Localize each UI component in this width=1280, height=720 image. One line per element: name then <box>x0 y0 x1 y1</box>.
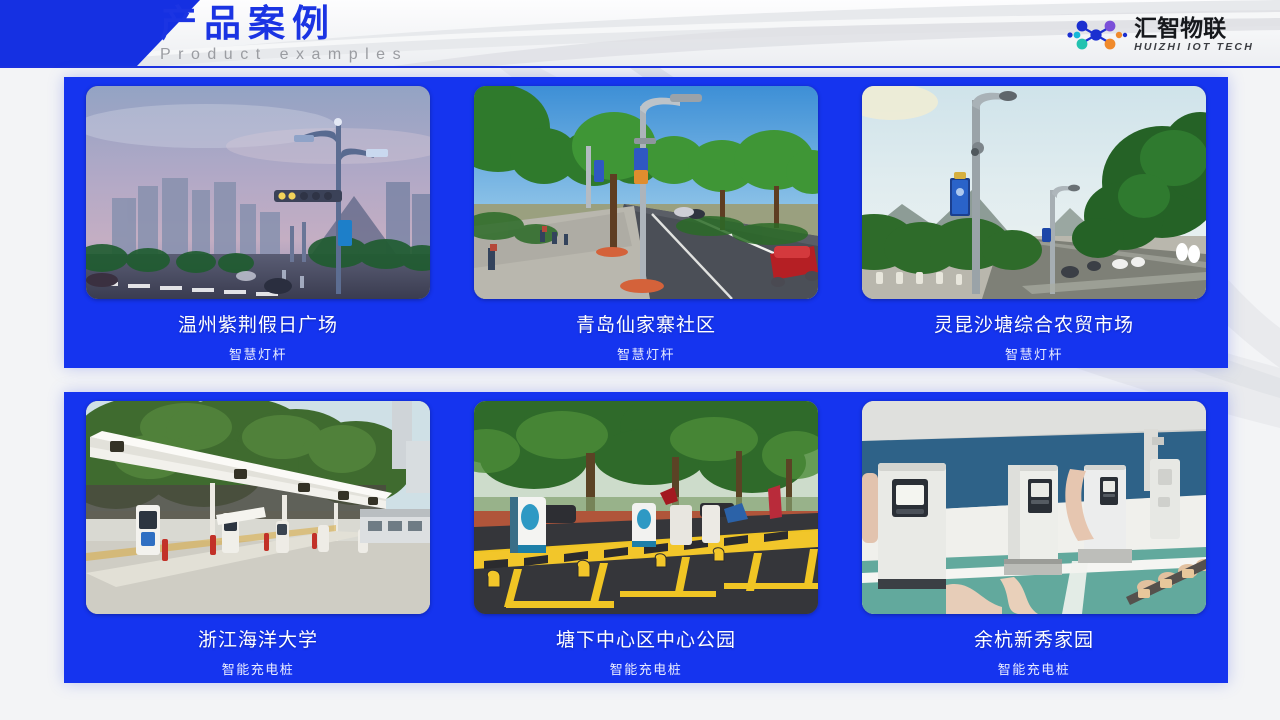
park-parking-lot-chargers-photo[interactable] <box>474 401 818 614</box>
card-subtitle: 智慧灯杆 <box>1005 344 1063 363</box>
card-title: 青岛仙家寨社区 <box>576 310 716 337</box>
card-title: 温州紫荆假日广场 <box>178 310 338 337</box>
brand-logo[interactable]: 汇智物联 HUIZHI IOT TECH <box>1066 14 1254 56</box>
example-card[interactable]: 灵昆沙塘综合农贸市场 智慧灯杆 <box>861 86 1207 363</box>
brand-name-en: HUIZHI IOT TECH <box>1134 41 1254 54</box>
card-row-2: 浙江海洋大学 智能充电桩 <box>64 392 1228 683</box>
page-subtitle: Product examples <box>160 45 408 65</box>
page-header: 产品案例 Product examples 汇智物联 HUIZHI IOT TE… <box>0 0 1280 68</box>
tree-lined-avenue-smart-pole-render[interactable] <box>474 86 818 299</box>
example-card[interactable]: 青岛仙家寨社区 智慧灯杆 <box>473 86 819 363</box>
brand-logo-text: 汇智物联 HUIZHI IOT TECH <box>1134 17 1254 54</box>
indoor-garage-charging-cabinets-photo[interactable] <box>862 401 1206 614</box>
example-card[interactable]: 余杭新秀家园 智能充电桩 <box>861 401 1207 678</box>
card-title: 浙江海洋大学 <box>198 625 318 652</box>
dusk-city-street-smart-pole-photo[interactable] <box>86 86 430 299</box>
card-row-1: 温州紫荆假日广场 智慧灯杆 <box>64 77 1228 368</box>
card-title: 灵昆沙塘综合农贸市场 <box>934 310 1134 337</box>
canopy-charging-station-photo[interactable] <box>86 401 430 614</box>
page-title-block: 产品案例 Product examples <box>160 2 408 65</box>
molecule-network-icon <box>1066 15 1128 55</box>
card-subtitle: 智能充电桩 <box>610 659 683 678</box>
card-subtitle: 智能充电桩 <box>222 659 295 678</box>
example-card[interactable]: 温州紫荆假日广场 智慧灯杆 <box>85 86 431 363</box>
examples-panel-row-1: 温州紫荆假日广场 智慧灯杆 <box>64 77 1228 368</box>
card-subtitle: 智慧灯杆 <box>229 344 287 363</box>
brand-name-cn: 汇智物联 <box>1134 17 1254 41</box>
card-subtitle: 智慧灯杆 <box>617 344 675 363</box>
example-card[interactable]: 塘下中心区中心公园 智能充电桩 <box>473 401 819 678</box>
card-title: 余杭新秀家园 <box>974 625 1094 652</box>
mountain-road-smart-pole-photo[interactable] <box>862 86 1206 299</box>
example-card[interactable]: 浙江海洋大学 智能充电桩 <box>85 401 431 678</box>
page-title: 产品案例 <box>160 2 408 46</box>
examples-panel-row-2: 浙江海洋大学 智能充电桩 <box>64 392 1228 683</box>
card-subtitle: 智能充电桩 <box>998 659 1071 678</box>
card-title: 塘下中心区中心公园 <box>556 625 736 652</box>
